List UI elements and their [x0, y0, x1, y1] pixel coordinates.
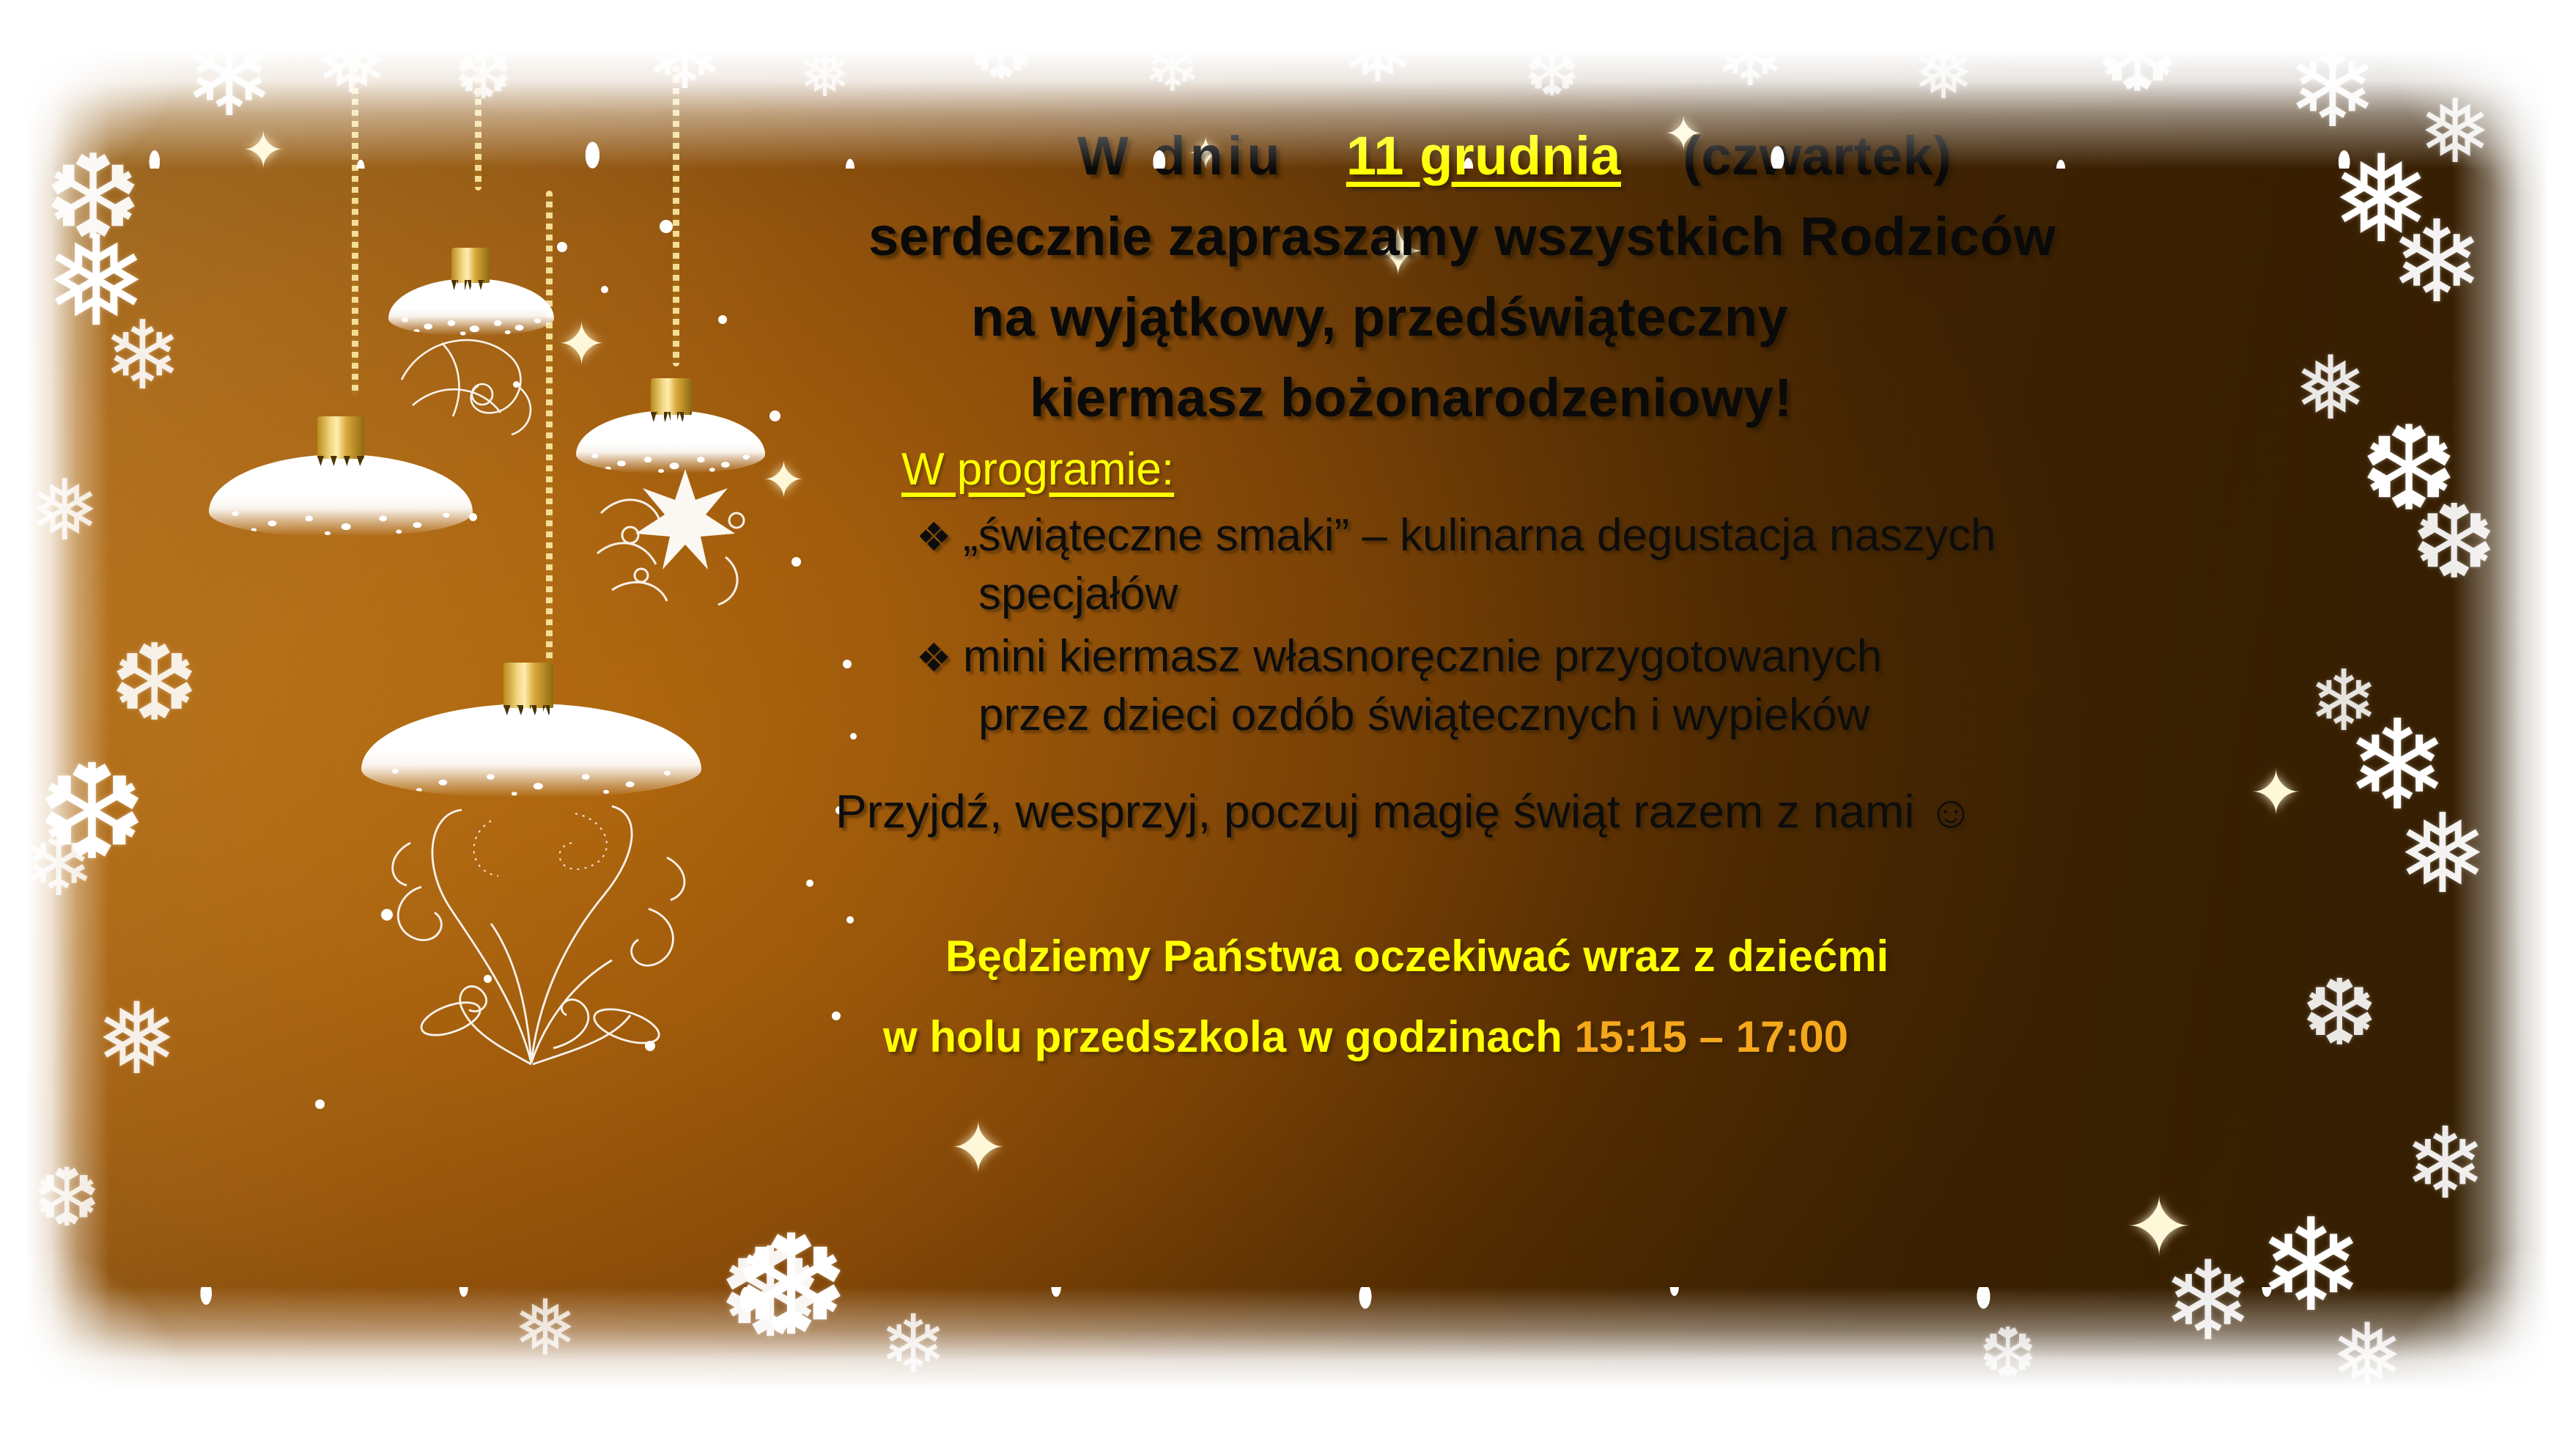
heading-line-2: serdecznie zapraszamy wszystkich Rodzicó… — [868, 205, 2056, 268]
call-to-action: Przyjdź, wesprzyj, poczuj magię świąt ra… — [835, 784, 1974, 839]
heading-date-prefix: W dniu — [1077, 125, 1285, 186]
call-to-action-text: Przyjdź, wesprzyj, poczuj magię świąt ra… — [835, 785, 1914, 838]
program-item-2-line-1: ❖mini kiermasz własnoręcznie przygotowan… — [916, 630, 1882, 682]
footer-location-text: w holu przedszkola w godzinach — [883, 1012, 1562, 1061]
heading-date-highlight: 11 grudnia — [1346, 125, 1621, 186]
smiley-face-icon: ☺ — [1927, 787, 1974, 838]
bullet-diamond-icon: ❖ — [916, 514, 963, 560]
ornament-hanger-string-3 — [673, 0, 679, 366]
ornament-hanger-string-1 — [475, 0, 481, 191]
program-item-2-text: mini kiermasz własnoręcznie przygotowany… — [963, 631, 1882, 682]
ornament-hanger-string-2 — [352, 0, 358, 396]
heading-line-1: W dniu 11 grudnia (czwartek) — [1077, 125, 1952, 187]
program-item-1-line-1: ❖„świąteczne smaki” – kulinarna degustac… — [916, 509, 1996, 561]
footer-time-range: 15:15 – 17:00 — [1574, 1012, 1848, 1061]
program-item-1-text: „świąteczne smaki” – kulinarna degustacj… — [963, 510, 1996, 561]
ornament-hanger-string-4 — [546, 191, 553, 667]
program-item-1-line-2: specjałów — [978, 568, 1178, 620]
heading-weekday: (czwartek) — [1683, 125, 1952, 186]
footer-line-2: w holu przedszkola w godzinach 15:15 – 1… — [883, 1011, 1848, 1062]
heading-line-4: kiermasz bożonarodzeniowy! — [1030, 366, 1793, 429]
christmas-fair-poster: ❄ ❅ ❆ ❄ ❅ ❆ ❄ ❅ ❆ ❄ ❅ ❆ ❄ ❅ ❆ ❄ ❅ ❆ ❄ ❅ … — [0, 0, 2576, 1441]
footer-line-1: Będziemy Państwa oczekiwać wraz z dziećm… — [945, 931, 1889, 981]
bullet-diamond-icon: ❖ — [916, 635, 963, 681]
program-title: W programie: — [901, 443, 1174, 495]
heading-line-3: na wyjątkowy, przedświąteczny — [971, 286, 1788, 348]
program-item-2-line-2: przez dzieci ozdób świątecznych i wypiek… — [978, 689, 1870, 741]
poster-text-content: W dniu 11 grudnia (czwartek) serdecznie … — [835, 110, 2433, 1356]
